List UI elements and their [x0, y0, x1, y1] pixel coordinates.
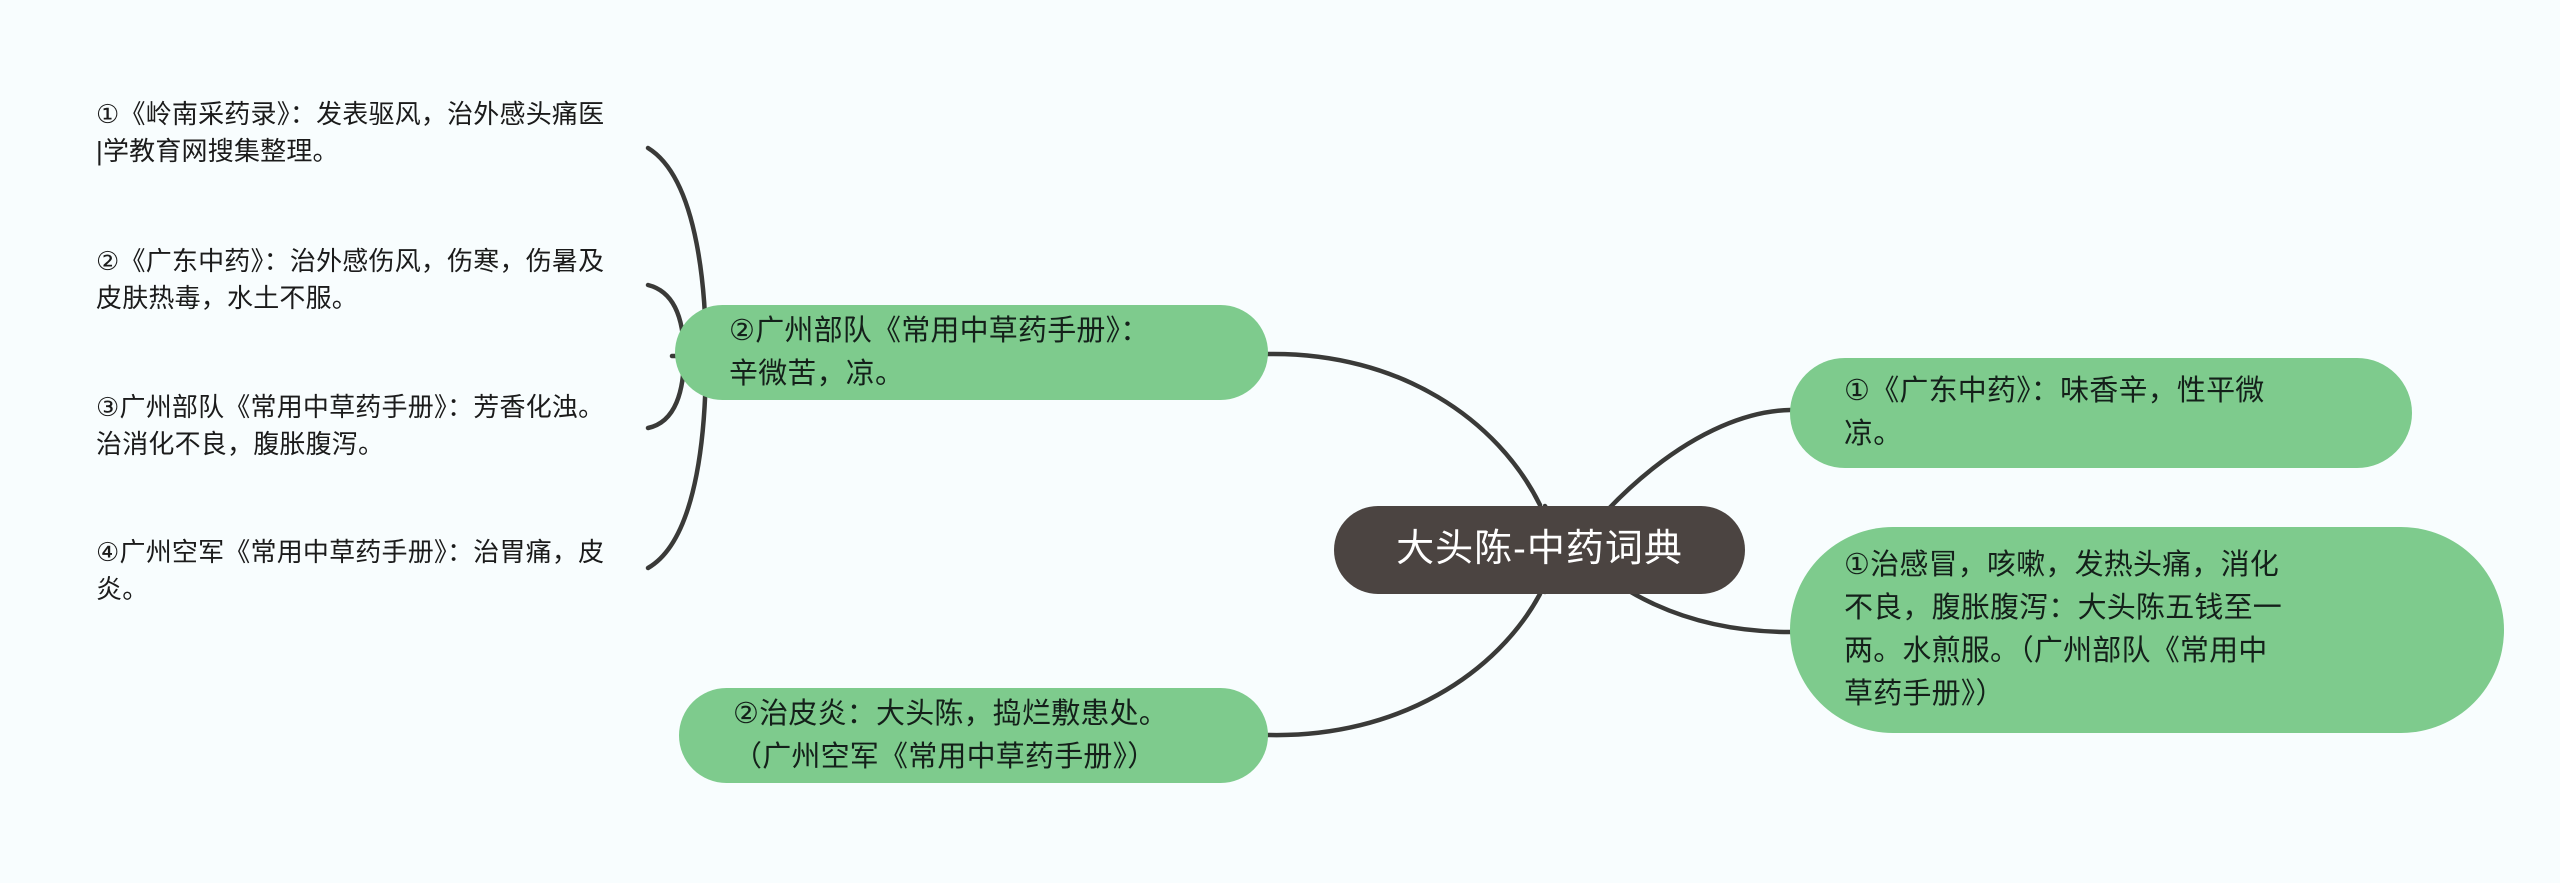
leaf-node-4[interactable]: ④广州空军《常用中草药手册》：治胃痛，皮 炎。: [96, 534, 656, 608]
mindmap-canvas: ①《岭南采药录》：发表驱风，治外感头痛医 |学教育网搜集整理。 ②《广东中药》：…: [0, 0, 2560, 883]
branch-node-right-top[interactable]: ①《广东中药》：味香辛，性平微 凉。: [1790, 358, 2412, 468]
leaf-node-2-label: ②《广东中药》：治外感伤风，伤寒，伤暑及 皮肤热毒，水土不服。: [96, 243, 604, 317]
leaf-node-1-label: ①《岭南采药录》：发表驱风，治外感头痛医 |学教育网搜集整理。: [96, 96, 604, 170]
leaf-node-1[interactable]: ①《岭南采药录》：发表驱风，治外感头痛医 |学教育网搜集整理。: [96, 96, 656, 170]
branch-node-left-top[interactable]: ②广州部队《常用中草药手册》： 辛微苦，凉。: [675, 305, 1268, 400]
root-node-label: 大头陈-中药词典: [1396, 527, 1683, 573]
branch-node-left-top-label: ②广州部队《常用中草药手册》： 辛微苦，凉。: [729, 310, 1150, 396]
branch-node-left-bottom-label: ②治皮炎：大头陈，捣烂敷患处。 （广州空军《常用中草药手册》）: [733, 693, 1168, 779]
branch-node-left-bottom[interactable]: ②治皮炎：大头陈，捣烂敷患处。 （广州空军《常用中草药手册》）: [679, 688, 1268, 783]
leaf-node-3[interactable]: ③广州部队《常用中草药手册》：芳香化浊。 治消化不良，腹胀腹泻。: [96, 389, 656, 463]
branch-node-right-top-label: ①《广东中药》：味香辛，性平微 凉。: [1844, 370, 2265, 456]
root-node[interactable]: 大头陈-中药词典: [1334, 506, 1745, 594]
branch-node-right-bottom-label: ①治感冒，咳嗽，发热头痛，消化 不良，腹胀腹泻：大头陈五钱至一 两。水煎服。（广…: [1844, 544, 2282, 716]
connector-left-bottom-to-root: [1268, 594, 1540, 735]
leaf-node-3-label: ③广州部队《常用中草药手册》：芳香化浊。 治消化不良，腹胀腹泻。: [96, 389, 604, 463]
connector-left-top-to-root: [1268, 354, 1540, 505]
leaf-node-2[interactable]: ②《广东中药》：治外感伤风，伤寒，伤暑及 皮肤热毒，水土不服。: [96, 243, 656, 317]
branch-node-right-bottom[interactable]: ①治感冒，咳嗽，发热头痛，消化 不良，腹胀腹泻：大头陈五钱至一 两。水煎服。（广…: [1790, 527, 2504, 733]
leaf-node-4-label: ④广州空军《常用中草药手册》：治胃痛，皮 炎。: [96, 534, 604, 608]
